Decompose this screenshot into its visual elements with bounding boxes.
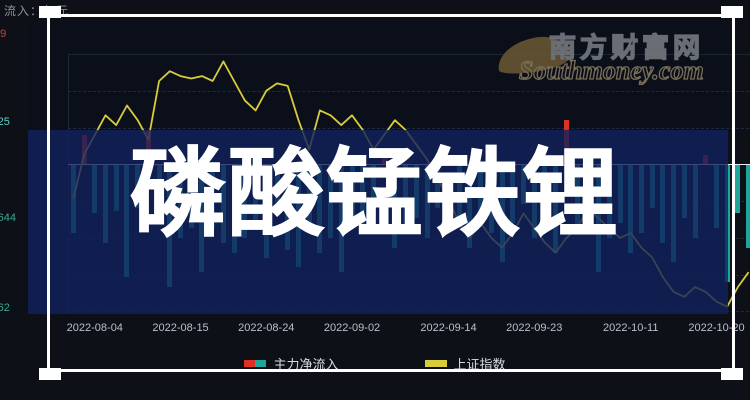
x-axis-tick-label: 2022-08-04 bbox=[67, 322, 123, 334]
legend-item-shanghai-index[interactable]: 上证指数 bbox=[425, 354, 506, 373]
chart-legend: 主力净流入 上证指数 bbox=[0, 348, 750, 378]
y-axis-tick-label: 39 bbox=[0, 28, 6, 40]
x-axis-tick-label: 2022-09-23 bbox=[506, 322, 562, 334]
legend-swatch-icon-main-net-inflow bbox=[244, 360, 266, 367]
chart-header: 流入：亿元 bbox=[0, 0, 750, 22]
y-axis-tick-label: -62 bbox=[0, 302, 10, 314]
chart-screenshot: 流入：亿元 390-25-644-62 南方财富网 Southmoney.com… bbox=[0, 0, 750, 400]
x-axis-tick-label: 2022-08-15 bbox=[152, 322, 208, 334]
x-axis-tick-label: 2022-09-14 bbox=[420, 322, 476, 334]
legend-item-main-net-inflow[interactable]: 主力净流入 bbox=[244, 354, 338, 373]
x-axis-tick-label: 2022-08-24 bbox=[238, 322, 294, 334]
legend-label-main-net-inflow: 主力净流入 bbox=[273, 354, 338, 373]
overlay-title: 磷酸锰铁锂 bbox=[0, 140, 750, 250]
legend-swatch-icon-shanghai-index bbox=[425, 360, 447, 367]
footer-strip bbox=[0, 378, 750, 400]
legend-label-shanghai-index: 上证指数 bbox=[454, 354, 506, 373]
x-axis: 2022-08-042022-08-152022-08-242022-09-02… bbox=[0, 314, 750, 346]
y-axis-tick-label: -25 bbox=[0, 116, 10, 128]
x-axis-tick-label: 2022-10-11 bbox=[603, 322, 658, 334]
x-axis-tick-label: 2022-10-20 bbox=[688, 322, 744, 334]
y-axis-unit-label: 流入：亿元 bbox=[4, 2, 69, 19]
x-axis-tick-label: 2022-09-02 bbox=[324, 322, 380, 334]
